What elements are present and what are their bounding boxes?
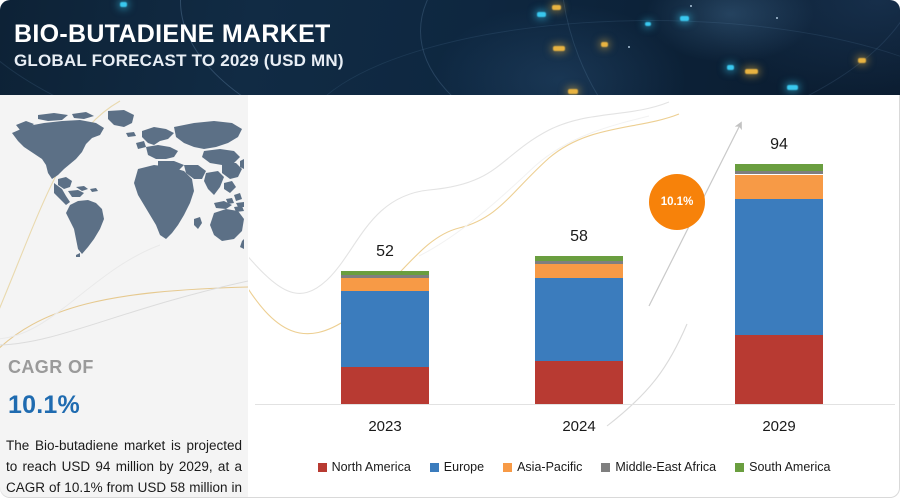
legend-label: South America (749, 460, 830, 474)
chart-legend: North AmericaEuropeAsia-PacificMiddle-Ea… (249, 455, 899, 479)
header-glint-icon (787, 85, 798, 90)
header-glint-icon (553, 46, 565, 51)
market-description: The Bio-butadiene market is projected to… (6, 435, 242, 497)
legend-label: Asia-Pacific (517, 460, 582, 474)
bar-segment-europe[interactable] (535, 278, 623, 361)
bar-segment-north-america[interactable] (341, 367, 429, 404)
legend-item[interactable]: South America (735, 460, 830, 474)
bar-total-label-2023: 52 (345, 243, 425, 261)
world-map-icon (8, 107, 244, 257)
legend-swatch-icon (503, 463, 512, 472)
header-banner: BIO-BUTADIENE MARKET GLOBAL FORECAST TO … (0, 0, 900, 95)
axis-baseline (255, 404, 895, 405)
legend-item[interactable]: Europe (430, 460, 484, 474)
legend-item[interactable]: Middle-East Africa (601, 460, 716, 474)
header-glint-icon (745, 69, 758, 74)
cagr-value: 10.1% (8, 391, 80, 420)
bar-2023[interactable] (341, 271, 429, 404)
header-glint-icon (858, 58, 866, 63)
category-label-2024: 2024 (534, 418, 624, 435)
legend-swatch-icon (601, 463, 610, 472)
bar-total-label-2029: 94 (739, 136, 819, 154)
header-glint-icon (645, 22, 651, 26)
bar-segment-south-america[interactable] (735, 164, 823, 170)
legend-swatch-icon (735, 463, 744, 472)
header-glint-icon (727, 65, 734, 70)
bar-segment-asia-pacific[interactable] (535, 264, 623, 278)
sidebar: CAGR OF 10.1% The Bio-butadiene market i… (0, 95, 248, 497)
header-glint-icon (568, 89, 578, 94)
header-glint-icon (680, 16, 689, 21)
header-glint-icon (120, 2, 127, 7)
page-title: BIO-BUTADIENE MARKET (14, 20, 344, 48)
bar-segment-europe[interactable] (735, 199, 823, 335)
legend-swatch-icon (318, 463, 327, 472)
bar-segment-asia-pacific[interactable] (341, 278, 429, 291)
legend-item[interactable]: Asia-Pacific (503, 460, 582, 474)
legend-label: North America (332, 460, 411, 474)
category-label-2023: 2023 (340, 418, 430, 435)
bar-2029[interactable] (735, 164, 823, 404)
header-spark-icon (690, 5, 692, 7)
category-label-2029: 2029 (734, 418, 824, 435)
bar-2024[interactable] (535, 256, 623, 404)
header-glint-icon (601, 42, 608, 47)
bar-segment-north-america[interactable] (535, 361, 623, 404)
page-subtitle: GLOBAL FORECAST TO 2029 (USD MN) (14, 50, 344, 72)
chart-area: 52 2023 58 2024 94 2029 10.1% (249, 96, 899, 497)
bar-segment-north-america[interactable] (735, 335, 823, 404)
cagr-bubble[interactable]: 10.1% (649, 174, 705, 230)
bar-segment-south-america[interactable] (341, 271, 429, 275)
bar-total-label-2024: 58 (539, 228, 619, 246)
bar-segment-europe[interactable] (341, 291, 429, 368)
header-spark-icon (776, 17, 778, 19)
legend-label: Middle-East Africa (615, 460, 716, 474)
header-spark-icon (628, 46, 630, 48)
header-glint-icon (552, 5, 561, 10)
bar-segment-middle-east-africa[interactable] (735, 171, 823, 175)
bar-segment-middle-east-africa[interactable] (535, 261, 623, 264)
bar-segment-south-america[interactable] (535, 256, 623, 261)
legend-label: Europe (444, 460, 484, 474)
bar-segment-middle-east-africa[interactable] (341, 275, 429, 278)
header-text-block: BIO-BUTADIENE MARKET GLOBAL FORECAST TO … (14, 20, 344, 72)
cagr-label: CAGR OF (8, 357, 94, 378)
legend-item[interactable]: North America (318, 460, 411, 474)
header-glint-icon (537, 12, 546, 17)
infographic-page: BIO-BUTADIENE MARKET GLOBAL FORECAST TO … (0, 0, 900, 498)
bar-segment-asia-pacific[interactable] (735, 175, 823, 199)
legend-swatch-icon (430, 463, 439, 472)
